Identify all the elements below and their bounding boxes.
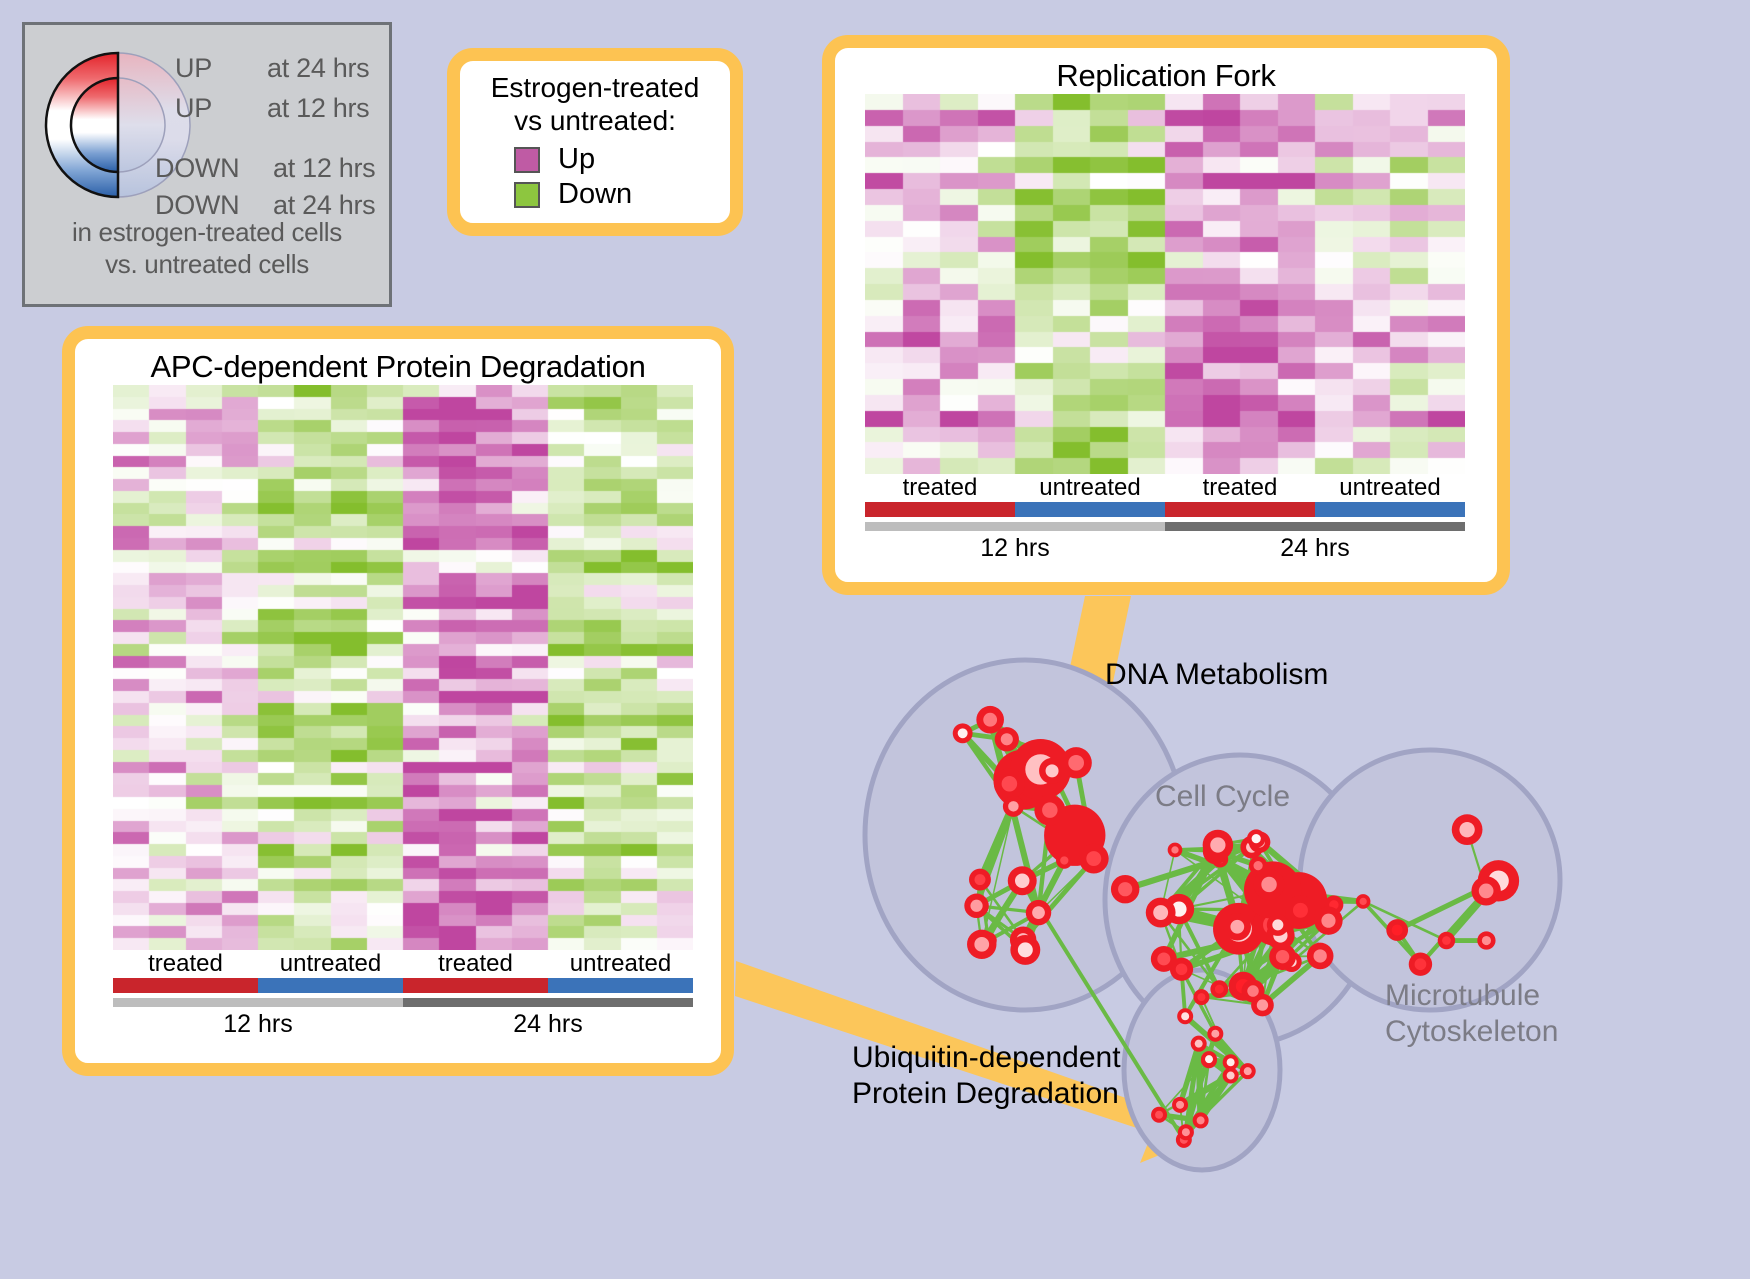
panel-apc-degradation: APC-dependent Protein Degradation treate… (62, 326, 734, 1076)
network-node[interactable] (1249, 856, 1267, 874)
network-node[interactable] (1193, 1112, 1209, 1128)
cluster-label-ubiquitin: Ubiquitin-dependentProtein Degradation (852, 1040, 1142, 1112)
legend-label-up: Up (558, 143, 595, 176)
key-time-up-24: at 24 hrs (267, 53, 369, 84)
time-bar-24hrs (1165, 522, 1465, 531)
network-node[interactable] (1056, 852, 1073, 869)
network-node[interactable] (1193, 989, 1209, 1005)
time-labels-apc: 12 hrs 24 hrs (113, 1010, 693, 1039)
condition-bar-untreated-12 (1015, 502, 1165, 517)
panel-replication-fork: Replication Fork treated untreated treat… (822, 35, 1510, 595)
condition-bar-treated-24 (403, 978, 548, 993)
time-color-bar-replication-fork (865, 522, 1465, 531)
network-node[interactable] (1356, 894, 1371, 909)
network-node[interactable] (1177, 1008, 1193, 1024)
heatmap-apc-degradation (113, 385, 693, 950)
key-label-up-24: UP (175, 53, 212, 84)
network-node[interactable] (1240, 1063, 1256, 1079)
network-node[interactable] (1060, 747, 1091, 778)
network-node[interactable] (1477, 931, 1495, 949)
condition-bar-treated-12 (865, 502, 1015, 517)
condition-bar-untreated-24 (548, 978, 693, 993)
network-node[interactable] (1307, 943, 1334, 970)
cluster-label-dna-metabolism: DNA Metabolism (1105, 658, 1328, 692)
condition-label: treated (403, 950, 548, 978)
network-node[interactable] (1168, 843, 1183, 858)
network-node[interactable] (1409, 953, 1432, 976)
time-bar-24hrs (403, 998, 693, 1007)
time-label: 12 hrs (113, 1010, 403, 1039)
key-label-down-12: DOWN (155, 153, 239, 184)
time-label: 12 hrs (865, 534, 1165, 563)
legend-item-up: Up (514, 143, 730, 176)
key-label-up-12: UP (175, 93, 212, 124)
color-key-footnote: in estrogen-treated cells vs. untreated … (25, 217, 389, 280)
network-node[interactable] (1010, 935, 1040, 965)
axis-replication-fork: treated untreated treated untreated 12 h (865, 474, 1465, 563)
network-node[interactable] (1146, 898, 1176, 928)
condition-label: untreated (548, 950, 693, 978)
condition-label: treated (1165, 474, 1315, 502)
network-node[interactable] (1151, 946, 1177, 972)
condition-label: untreated (258, 950, 403, 978)
network-node[interactable] (1314, 907, 1342, 935)
time-label: 24 hrs (403, 1010, 693, 1039)
updown-legend-box: Estrogen-treated vs untreated: Up Down (447, 48, 743, 236)
network-node[interactable] (1191, 1036, 1207, 1052)
condition-labels-apc: treated untreated treated untreated (113, 950, 693, 978)
network-node[interactable] (1207, 1026, 1223, 1042)
network-node[interactable] (967, 930, 996, 959)
network-node[interactable] (1386, 919, 1408, 941)
condition-color-bar-replication-fork (865, 502, 1465, 517)
time-color-bar-apc (113, 998, 693, 1007)
time-bar-12hrs (865, 522, 1165, 531)
cluster-microtubule (1300, 750, 1560, 1010)
network-node[interactable] (1026, 900, 1051, 925)
network-node[interactable] (1178, 1124, 1194, 1140)
panel-title-apc: APC-dependent Protein Degradation (75, 349, 721, 385)
network-node[interactable] (1203, 830, 1234, 861)
network-node[interactable] (1003, 796, 1024, 817)
network-node[interactable] (994, 768, 1025, 799)
condition-label: untreated (1315, 474, 1465, 502)
color-key-box: UP at 24 hrs UP at 12 hrs DOWN at 12 hrs… (22, 22, 392, 307)
condition-bar-treated-24 (1165, 502, 1315, 517)
legend-title-line1: Estrogen-treated (460, 71, 730, 104)
network-node[interactable] (1201, 1051, 1217, 1067)
network-node[interactable] (969, 869, 991, 891)
condition-label: untreated (1015, 474, 1165, 502)
legend-item-down: Down (514, 178, 730, 211)
network-node[interactable] (1210, 980, 1228, 998)
network-node[interactable] (1247, 829, 1265, 847)
condition-color-bar-apc (113, 978, 693, 993)
network-node[interactable] (1438, 932, 1455, 949)
network-node[interactable] (1034, 795, 1065, 826)
cluster-label-microtubule: MicrotubuleCytoskeleton (1385, 978, 1545, 1050)
network-node[interactable] (1267, 914, 1289, 936)
network-node[interactable] (1223, 1054, 1239, 1070)
time-labels-replication-fork: 12 hrs 24 hrs (865, 534, 1465, 563)
network-node[interactable] (976, 706, 1004, 734)
legend-label-down: Down (558, 178, 632, 211)
figure-canvas: UP at 24 hrs UP at 12 hrs DOWN at 12 hrs… (0, 0, 1750, 1279)
cluster-label-cell-cycle: Cell Cycle (1155, 780, 1290, 814)
network-node[interactable] (1224, 913, 1251, 940)
network-node[interactable] (1079, 844, 1109, 874)
color-key-footnote-line2: vs. untreated cells (25, 249, 389, 281)
panel-title-replication-fork: Replication Fork (835, 58, 1497, 94)
axis-apc: treated untreated treated untreated 12 h (113, 950, 693, 1039)
key-time-down-12: at 12 hrs (273, 153, 375, 184)
legend-swatch-up-icon (514, 147, 540, 173)
network-node[interactable] (1151, 1107, 1167, 1123)
network-node[interactable] (1008, 866, 1037, 895)
network-node[interactable] (1111, 875, 1139, 903)
legend-title: Estrogen-treated vs untreated: (460, 71, 730, 137)
color-key-footnote-line1: in estrogen-treated cells (25, 217, 389, 249)
heatmap-replication-fork (865, 94, 1465, 474)
legend-swatch-down-icon (514, 182, 540, 208)
network-node[interactable] (1286, 895, 1316, 925)
network-node[interactable] (1172, 1097, 1188, 1113)
time-bar-12hrs (113, 998, 403, 1007)
condition-bar-treated-12 (113, 978, 258, 993)
network-node[interactable] (953, 723, 973, 743)
key-time-up-12: at 12 hrs (267, 93, 369, 124)
condition-bar-untreated-12 (258, 978, 403, 993)
condition-bar-untreated-24 (1315, 502, 1465, 517)
network-diagram: DNA Metabolism Cell Cycle MicrotubuleCyt… (790, 600, 1750, 1279)
network-node[interactable] (1452, 814, 1483, 845)
network-node[interactable] (1251, 994, 1274, 1017)
time-label: 24 hrs (1165, 534, 1465, 563)
network-node[interactable] (1471, 876, 1500, 905)
legend-title-line2: vs untreated: (460, 104, 730, 137)
condition-label: treated (865, 474, 1015, 502)
condition-labels-replication-fork: treated untreated treated untreated (865, 474, 1465, 502)
condition-label: treated (113, 950, 258, 978)
network-node[interactable] (964, 894, 988, 918)
